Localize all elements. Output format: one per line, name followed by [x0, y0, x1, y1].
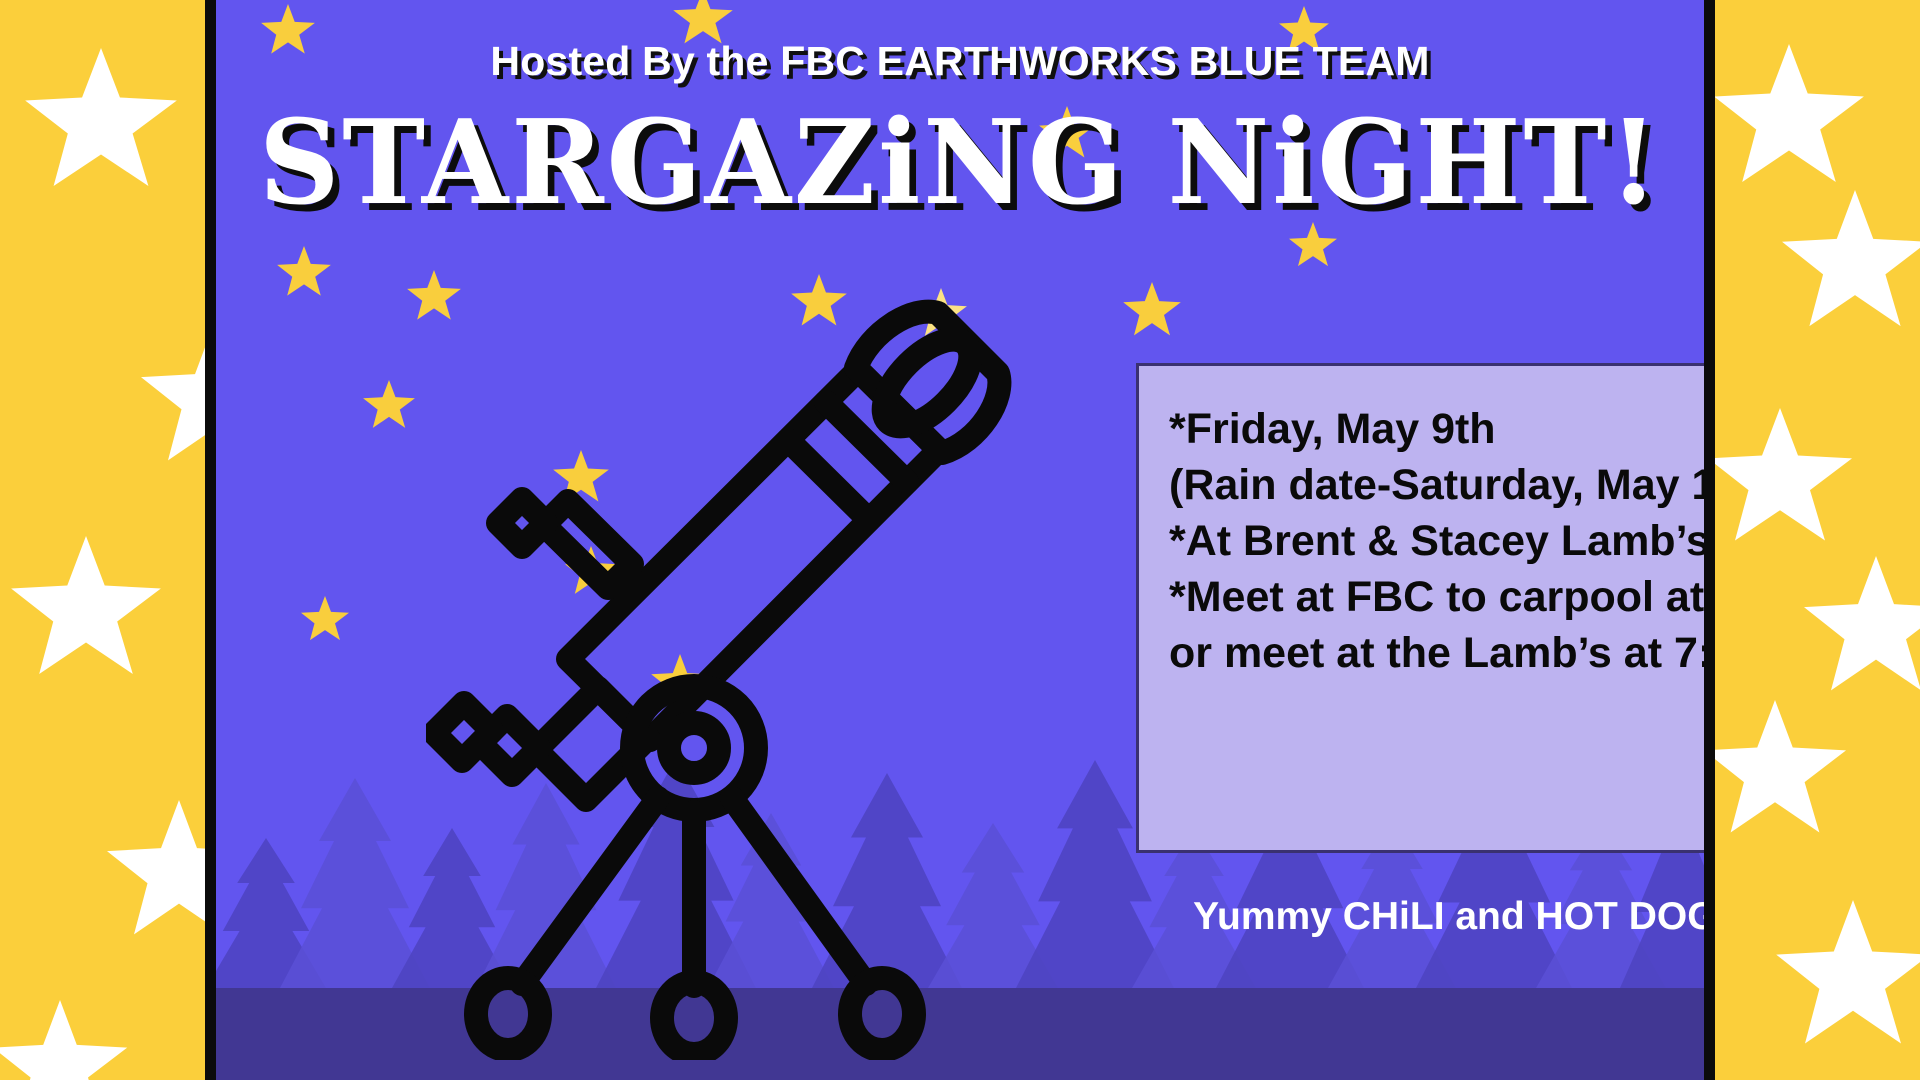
telescope-icon: [426, 270, 1066, 1060]
star-icon: [1801, 556, 1920, 702]
star-icon: [8, 536, 164, 686]
star-icon: [1773, 900, 1920, 1056]
star-icon: [0, 1000, 130, 1080]
hosted-by-line: Hosted By the FBC EARTHWORKS BLUE TEAM: [216, 38, 1704, 85]
page-title: STARGAZiNG NiGHT!: [246, 104, 1674, 222]
star-icon: [1779, 190, 1920, 338]
night-sky-stage: Hosted By the FBC EARTHWORKS BLUE TEAM S…: [216, 0, 1704, 1080]
food-note: Yummy CHiLI and HOT DOGS, too!: [1136, 895, 1704, 939]
event-details-text: *Friday, May 9th (Rain date-Saturday, Ma…: [1169, 402, 1704, 681]
pine-tree-icon: [280, 778, 430, 988]
star-icon: [1715, 408, 1855, 552]
star-icon: [362, 380, 416, 432]
star-icon: [1715, 700, 1849, 844]
left-border-band: [0, 0, 212, 1080]
poster-canvas: Hosted By the FBC EARTHWORKS BLUE TEAM S…: [0, 0, 1920, 1080]
star-icon: [276, 246, 332, 300]
event-details-box: *Friday, May 9th (Rain date-Saturday, Ma…: [1136, 363, 1704, 853]
star-icon: [300, 596, 350, 644]
star-icon: [138, 326, 212, 472]
star-icon: [1122, 282, 1182, 340]
star-icon: [22, 48, 180, 198]
right-border-band: [1715, 0, 1920, 1080]
star-icon: [104, 800, 212, 946]
star-icon: [1715, 44, 1867, 194]
